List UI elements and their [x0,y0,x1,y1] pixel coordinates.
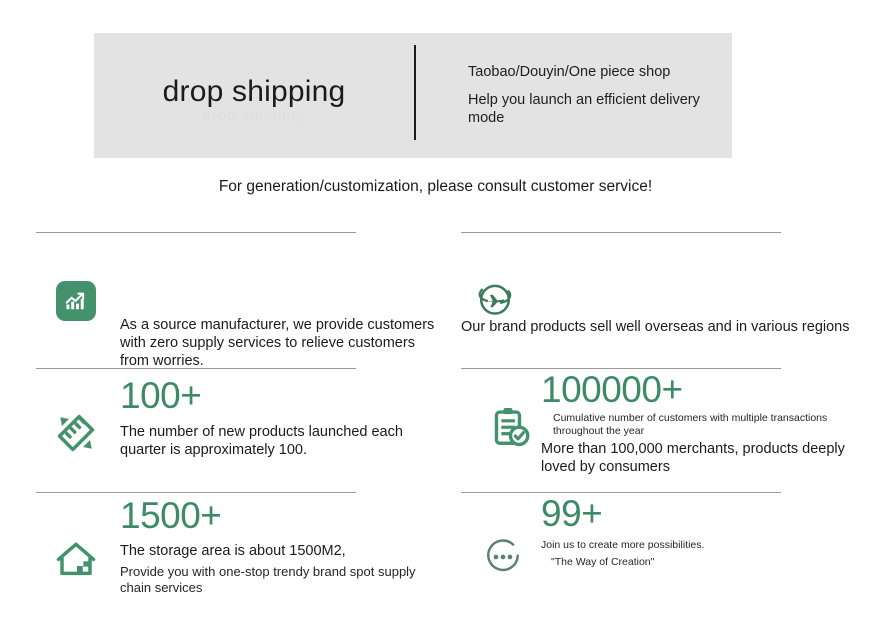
feature-number: 99+ [541,495,861,533]
feature-description: The storage area is about 1500M2, [120,543,436,561]
feature-column-right: Our brand products sell well overseas an… [461,232,861,611]
feature-card-source-manufacturer: As a source manufacturer, we provide cus… [36,232,436,368]
feature-description: Our brand products sell well overseas an… [461,319,861,337]
feature-subdescription: Cumulative number of customers with mult… [541,412,861,439]
feature-number: 100+ [120,377,436,415]
feature-subdescription: Provide you with one-stop trendy brand s… [120,564,436,597]
header-tagline-2: Help you launch an efficient delivery mo… [468,92,732,127]
ellipsis-circle-icon [475,529,531,585]
feature-description: As a source manufacturer, we provide cus… [120,317,436,371]
warehouse-house-icon [48,531,104,587]
page-title: drop shipping [163,77,346,107]
feature-card-cumulative-customers: 100000+ Cumulative number of customers w… [461,368,861,492]
clipboard-check-icon [483,399,539,455]
feature-description: More than 100,000 merchants, products de… [541,441,861,477]
ruler-pencil-icon [48,405,104,461]
header-banner: drop shipping drop shipping Taobao/Douyi… [94,33,732,158]
feature-column-left: As a source manufacturer, we provide cus… [36,232,436,611]
feature-card-new-products: 100+ The number of new products launched… [36,368,436,492]
feature-subdescription: "The Way of Creation" [541,556,661,570]
feature-description: The number of new products launched each… [120,424,436,460]
header-tagline-1: Taobao/Douyin/One piece shop [468,64,732,81]
feature-description: Join us to create more possibilities. [541,539,861,553]
consult-service-note: For generation/customization, please con… [0,178,871,196]
header-title-area: drop shipping drop shipping [94,33,414,158]
header-ghost-text: drop shipping [94,107,414,124]
bar-chart-growth-icon [48,273,104,329]
feature-card-way-of-creation: 99+ Join us to create more possibilities… [461,492,861,611]
feature-card-storage-area: 1500+ The storage area is about 1500M2, … [36,492,436,611]
feature-number: 1500+ [120,497,436,535]
header-tagline-area: Taobao/Douyin/One piece shop Help you la… [416,33,732,158]
feature-number: 100000+ [541,371,861,409]
feature-card-overseas-sales: Our brand products sell well overseas an… [461,232,861,368]
